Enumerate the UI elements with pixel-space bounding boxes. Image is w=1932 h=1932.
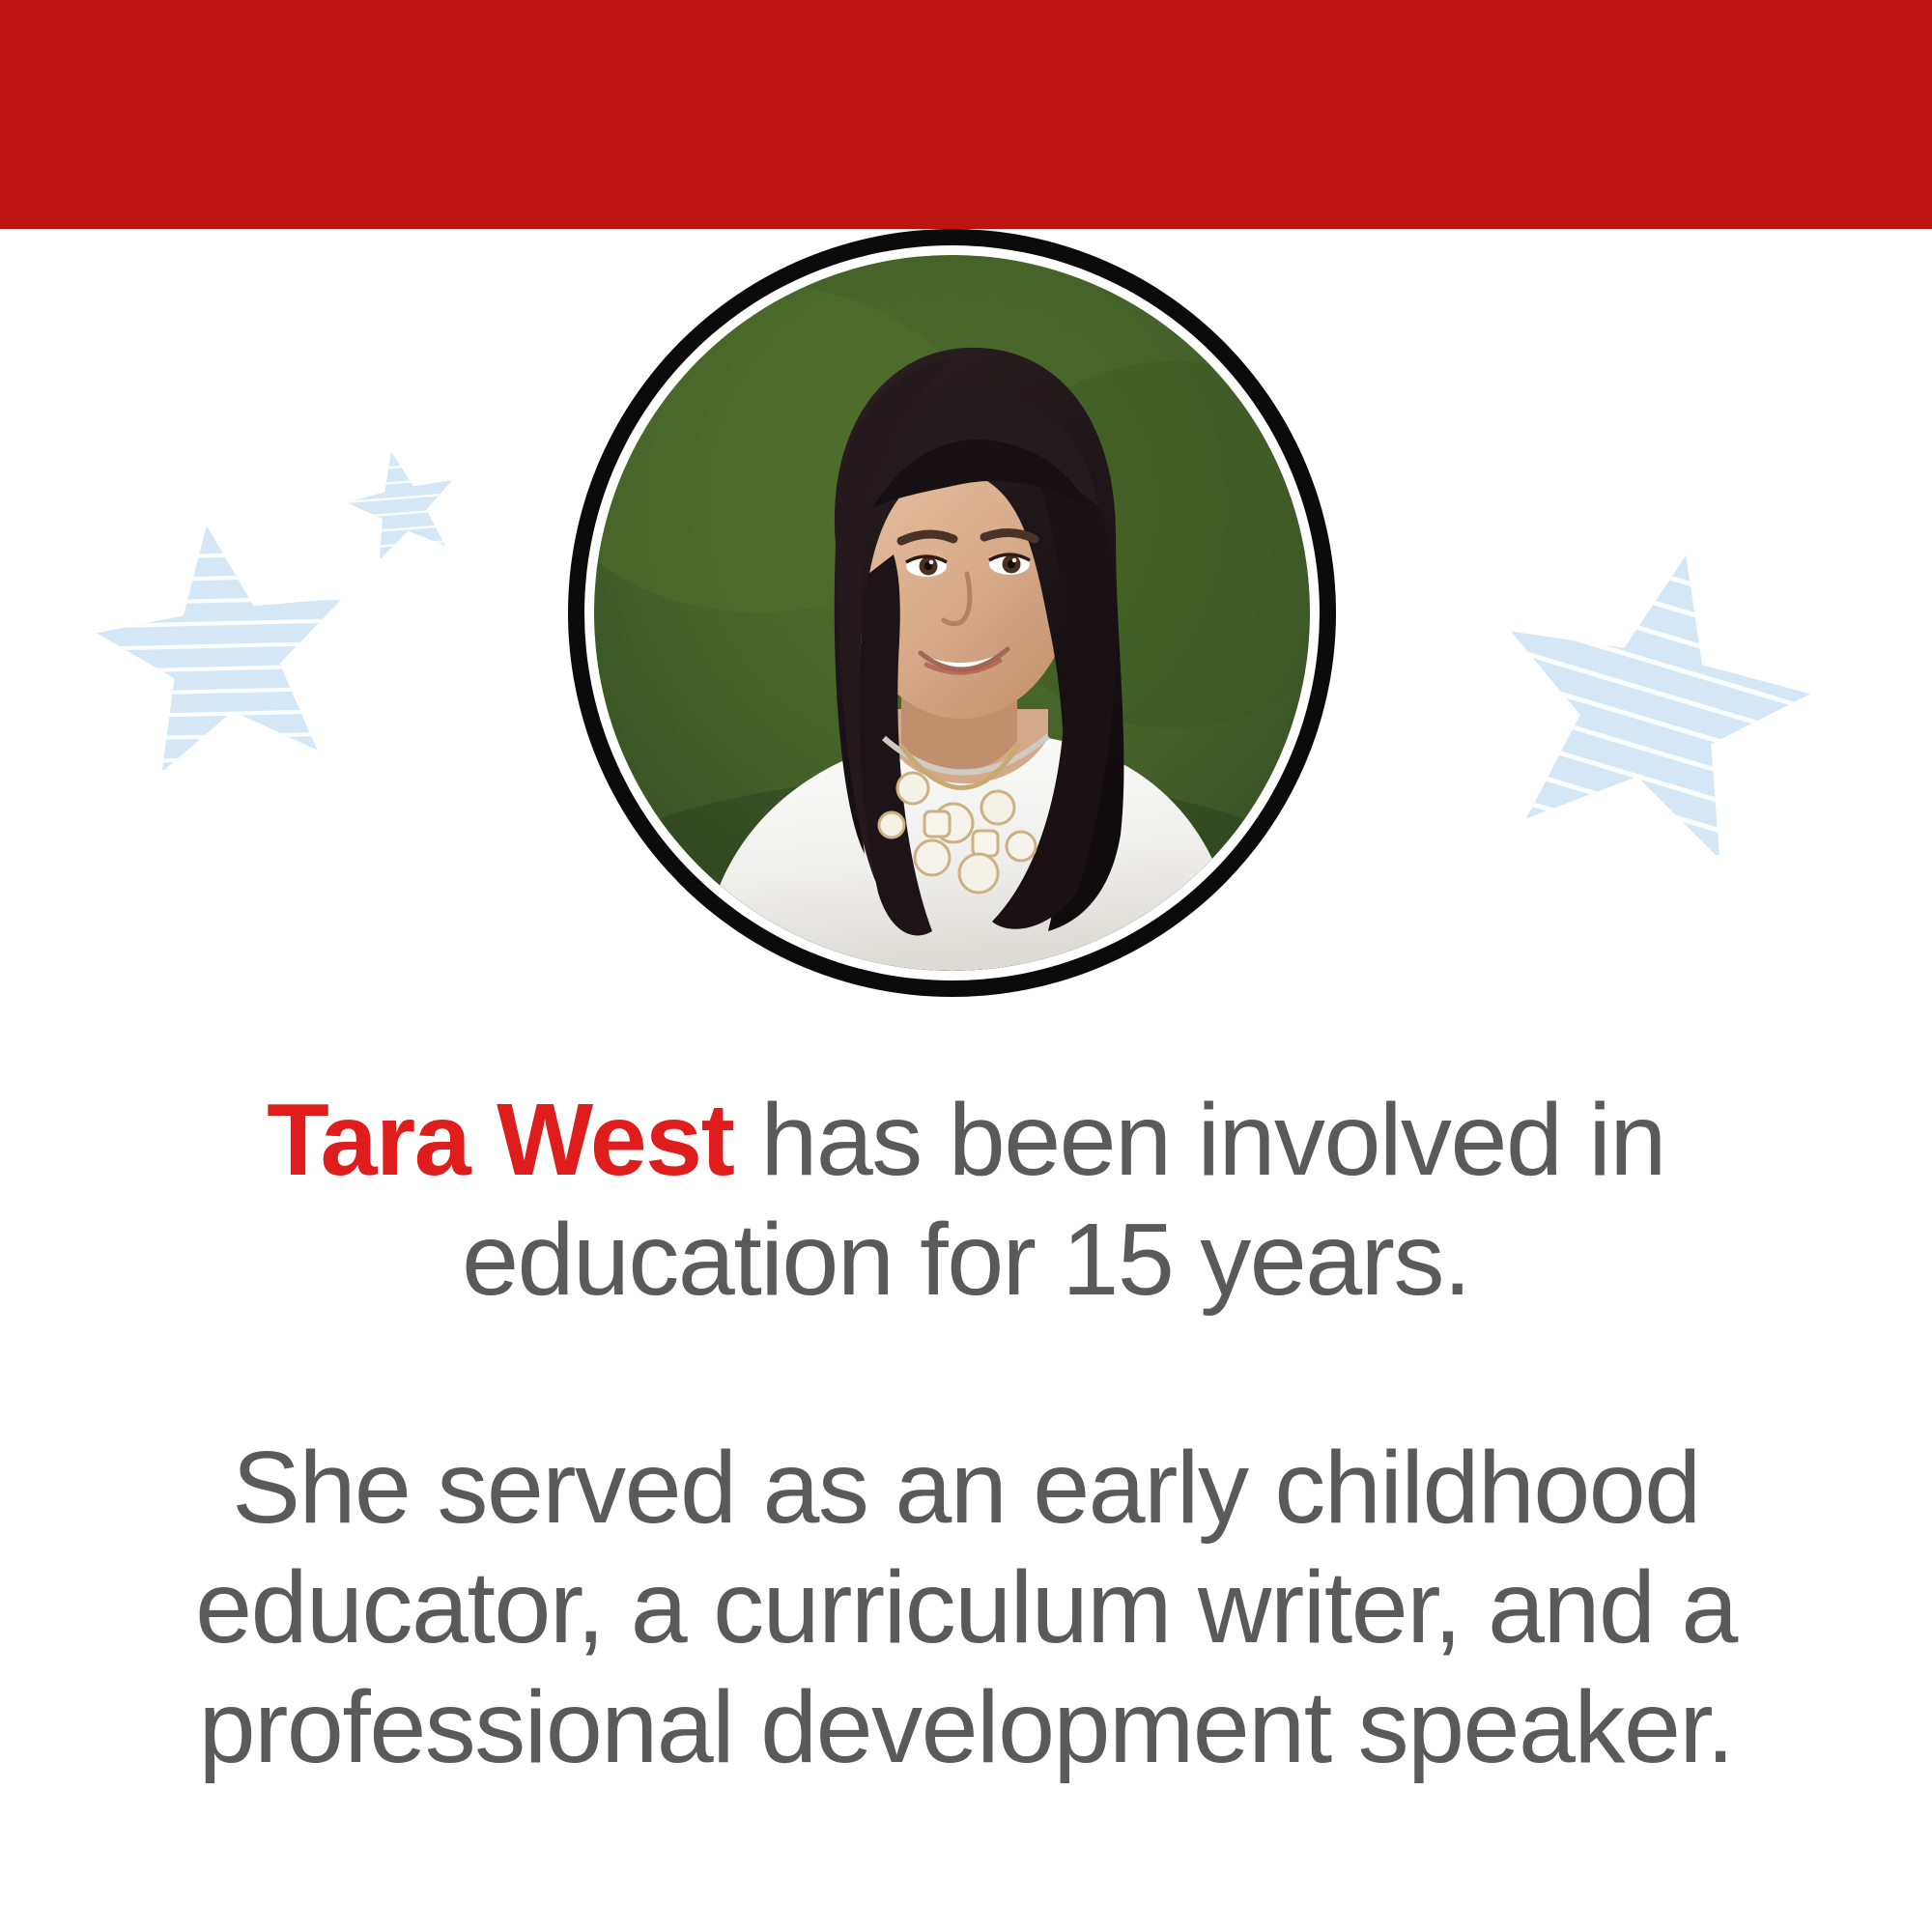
paragraph-two: She served as an early childhood educato… [97, 1428, 1835, 1787]
meet-the-developer-slide: Meet the Developer [0, 0, 1932, 1932]
star-icon-large-right [1495, 536, 1814, 855]
star-icon-large-left [97, 517, 350, 770]
portrait-frame [568, 229, 1336, 997]
developer-name: Tara West [267, 1083, 733, 1197]
paragraph-one: Tara West has been involved in education… [97, 1080, 1835, 1320]
body-copy: Tara West has been involved in education… [97, 1080, 1835, 1787]
header-banner [0, 0, 1932, 229]
portrait-inner-ring [584, 245, 1320, 980]
star-icon-small-left [346, 446, 458, 558]
avatar [594, 255, 1310, 971]
